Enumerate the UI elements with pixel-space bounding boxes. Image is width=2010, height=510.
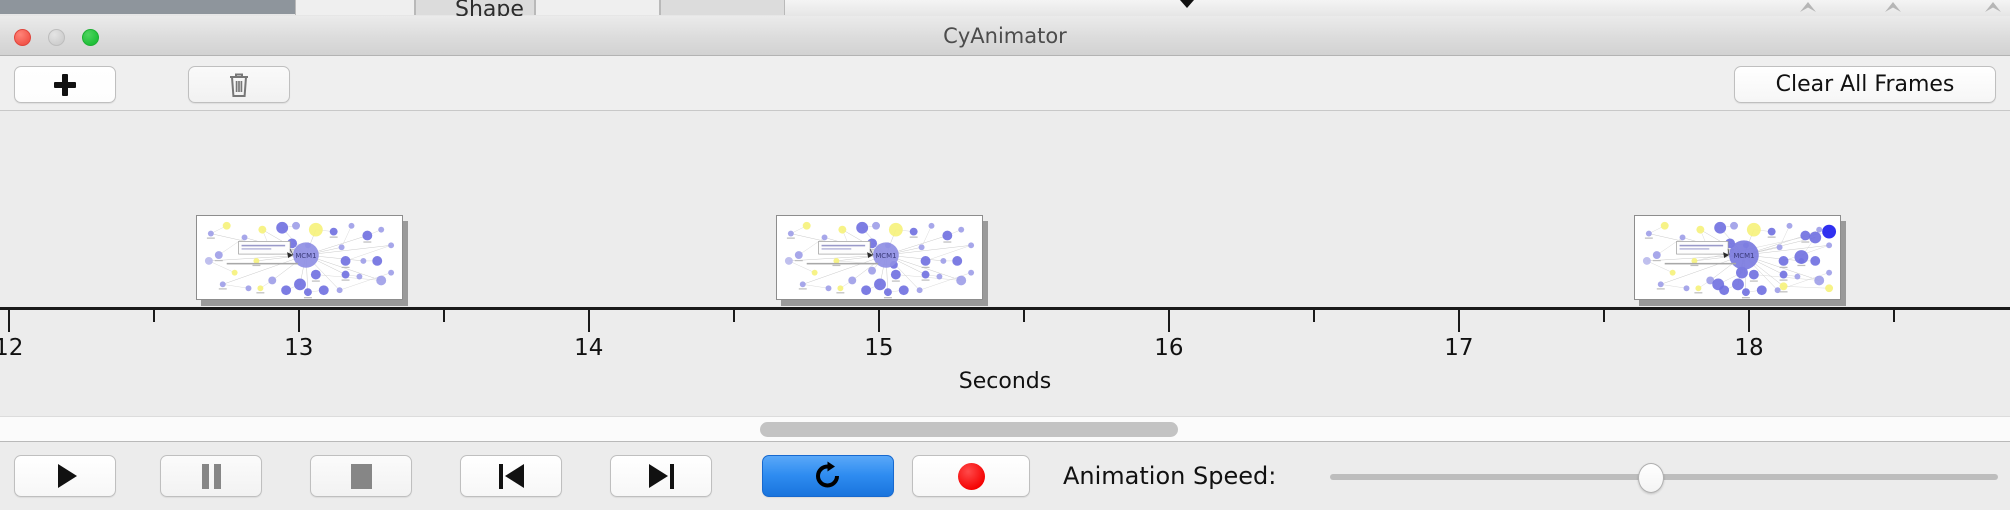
ruler-tick-major bbox=[878, 310, 880, 332]
ruler-tick-label: 13 bbox=[259, 335, 339, 361]
slider-thumb[interactable] bbox=[1638, 463, 1664, 493]
svg-text:MCM1: MCM1 bbox=[295, 252, 316, 260]
window-title: CyAnimator bbox=[0, 16, 2010, 56]
background-cell bbox=[660, 0, 785, 15]
ruler-tick-major bbox=[1458, 310, 1460, 332]
skip-back-icon bbox=[499, 464, 524, 489]
ruler-tick-major bbox=[1748, 310, 1750, 332]
record-button[interactable] bbox=[912, 455, 1030, 497]
timeline-frame[interactable]: MCM1 bbox=[776, 215, 986, 303]
frame-toolbar: Clear All Frames bbox=[0, 56, 2010, 111]
animation-speed-label: Animation Speed: bbox=[1063, 455, 1276, 497]
record-icon bbox=[958, 463, 985, 490]
delete-frame-button[interactable] bbox=[188, 66, 290, 103]
title-bar[interactable]: CyAnimator bbox=[0, 16, 2010, 56]
ruler-tick-label: 14 bbox=[549, 335, 629, 361]
skip-forward-icon bbox=[649, 464, 674, 489]
caret-down-icon bbox=[1180, 0, 1194, 8]
stop-icon bbox=[351, 464, 372, 489]
ruler-tick-major bbox=[8, 310, 10, 332]
sort-arrow-icon bbox=[1985, 2, 2001, 12]
frames-area[interactable]: MCM1 MCM1 MCM1 bbox=[0, 111, 2010, 307]
svg-text:MCM1: MCM1 bbox=[875, 252, 896, 260]
network-thumbnail-graphic: MCM1 bbox=[777, 216, 982, 299]
ruler-tick-label: 16 bbox=[1129, 335, 1209, 361]
playback-bar: Animation Speed: bbox=[0, 443, 2010, 510]
frame-card[interactable]: MCM1 bbox=[1634, 215, 1841, 300]
stop-button[interactable] bbox=[310, 455, 412, 497]
cyanimator-window: Shape CyAnimator Clear All Frames bbox=[0, 0, 2010, 510]
ruler-tick-minor bbox=[153, 310, 155, 322]
background-cell bbox=[535, 0, 660, 15]
network-thumbnail-graphic: MCM1 bbox=[1635, 216, 1840, 299]
play-button[interactable] bbox=[14, 455, 116, 497]
background-window-strip: Shape bbox=[0, 0, 2010, 16]
background-toolbar-dark bbox=[0, 0, 295, 14]
timeline-frame[interactable]: MCM1 bbox=[196, 215, 406, 303]
ruler-tick-minor bbox=[1893, 310, 1895, 322]
timeline-frame[interactable]: MCM1 bbox=[1634, 215, 1844, 303]
ruler-baseline bbox=[0, 307, 2010, 310]
frame-card[interactable]: MCM1 bbox=[196, 215, 403, 300]
play-icon bbox=[58, 464, 77, 488]
frame-card[interactable]: MCM1 bbox=[776, 215, 983, 300]
pause-button[interactable] bbox=[160, 455, 262, 497]
clear-all-frames-button[interactable]: Clear All Frames bbox=[1734, 66, 1996, 103]
timeline-scrollbar[interactable] bbox=[0, 416, 2010, 442]
axis-title: Seconds bbox=[885, 369, 1125, 394]
ruler-tick-label: 17 bbox=[1419, 335, 1499, 361]
ruler-tick-major bbox=[588, 310, 590, 332]
ruler-tick-minor bbox=[733, 310, 735, 322]
skip-to-start-button[interactable] bbox=[460, 455, 562, 497]
timeline-panel[interactable]: MCM1 MCM1 MCM1 121314151617 bbox=[0, 111, 2010, 416]
ruler-tick-major bbox=[1168, 310, 1170, 332]
add-frame-button[interactable] bbox=[14, 66, 116, 103]
svg-text:MCM1: MCM1 bbox=[1734, 252, 1755, 260]
ruler-tick-major bbox=[298, 310, 300, 332]
loop-button[interactable] bbox=[762, 455, 894, 497]
ruler-tick-minor bbox=[1023, 310, 1025, 322]
ruler-tick-label: 15 bbox=[839, 335, 919, 361]
loop-icon bbox=[813, 461, 843, 491]
ruler-tick-minor bbox=[443, 310, 445, 322]
sort-arrow-icon bbox=[1800, 2, 1816, 12]
ruler-tick-label: 12 bbox=[0, 335, 49, 361]
slider-track[interactable] bbox=[1330, 474, 1998, 480]
network-thumbnail-graphic: MCM1 bbox=[197, 216, 402, 299]
ruler-tick-minor bbox=[1313, 310, 1315, 322]
sort-arrow-icon bbox=[1885, 2, 1901, 12]
ruler-tick-label: 18 bbox=[1709, 335, 1789, 361]
trash-icon bbox=[227, 71, 251, 99]
background-window-label: Shape bbox=[455, 0, 524, 16]
animation-speed-slider[interactable] bbox=[1330, 455, 1998, 497]
ruler-tick-minor bbox=[1603, 310, 1605, 322]
plus-icon bbox=[54, 74, 76, 96]
background-cell bbox=[295, 0, 415, 15]
skip-to-end-button[interactable] bbox=[610, 455, 712, 497]
timeline-scrollbar-thumb[interactable] bbox=[760, 422, 1178, 437]
pause-icon bbox=[202, 464, 221, 489]
